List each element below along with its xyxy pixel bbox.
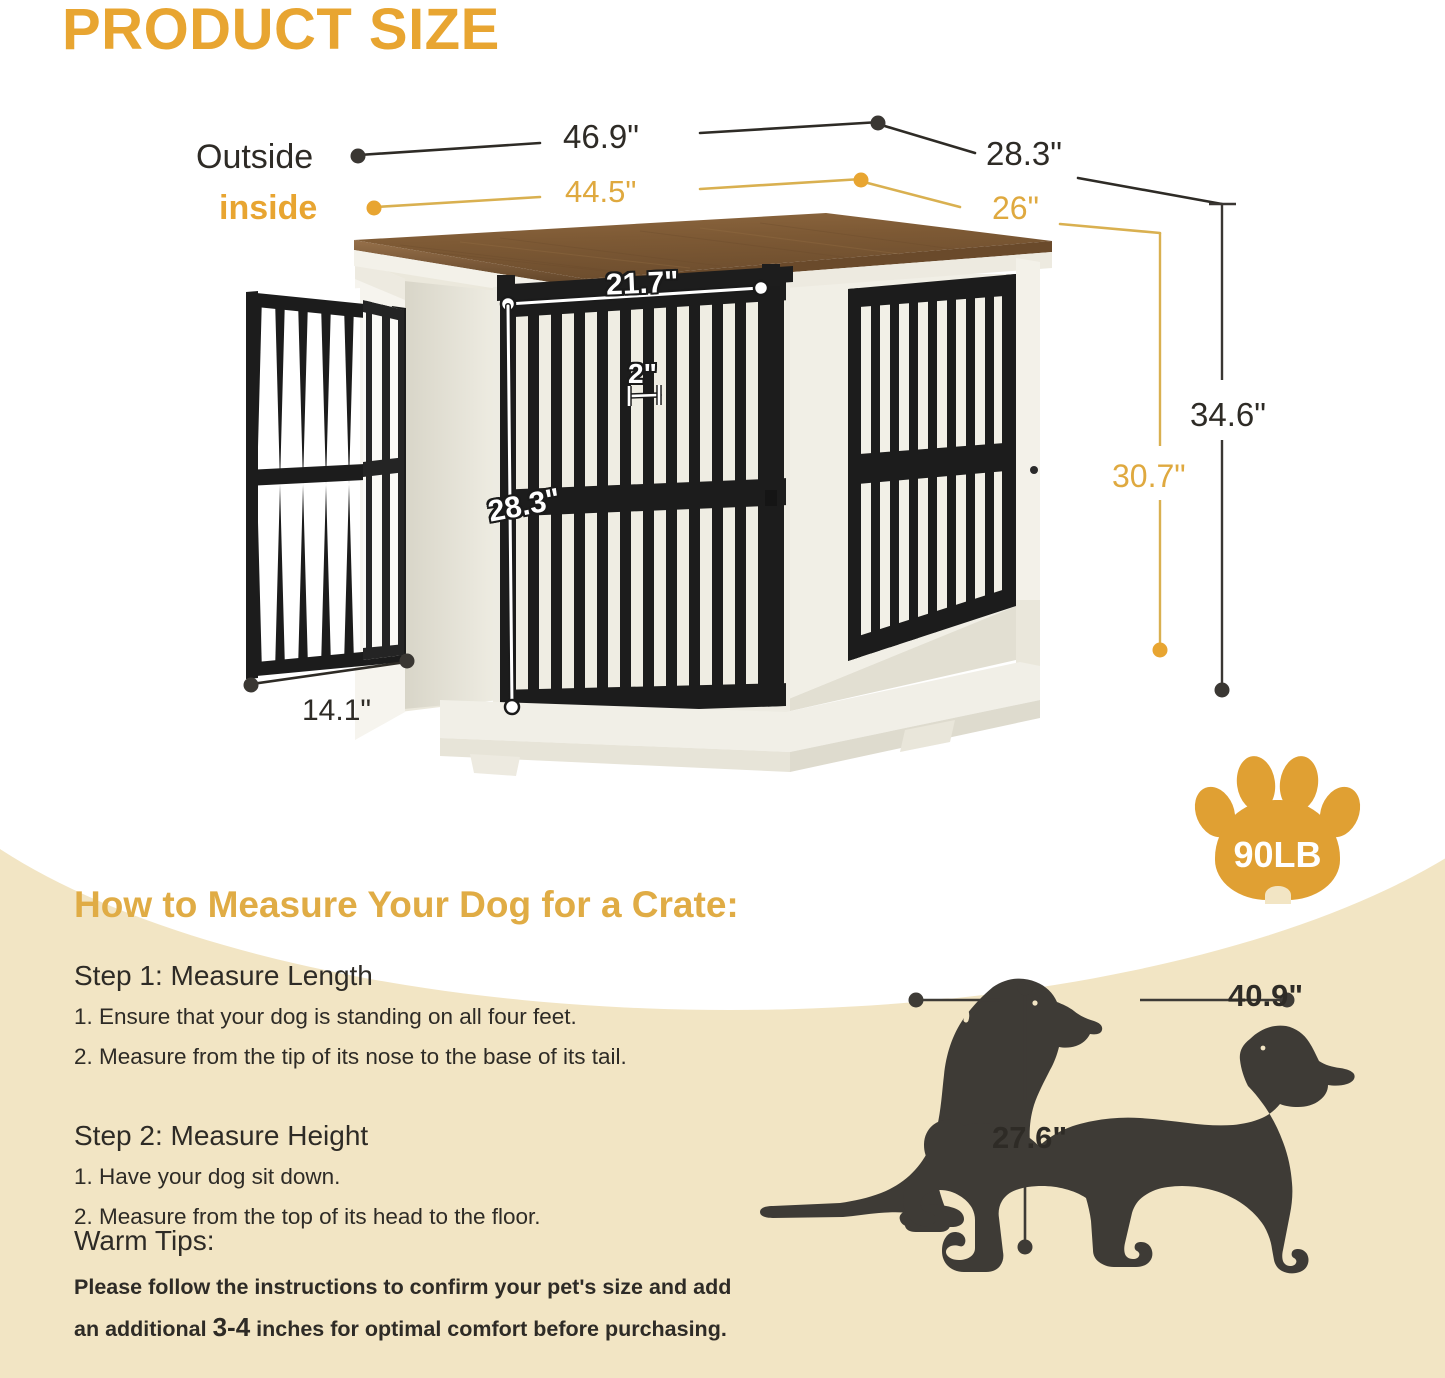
warm-tips-line-2: an additional 3-4 inches for optimal com… [74,1312,834,1343]
dimension-inside-height: 30.7" [1112,458,1186,495]
warm-tips-body: Please follow the instructions to confir… [74,1275,834,1355]
warm-tips-suffix: inches for optimal comfort before purcha… [250,1317,727,1341]
dimension-door-width: 21.7" [605,265,679,302]
warm-tips-line-1: Please follow the instructions to confir… [74,1275,834,1300]
step-2-heading: Step 2: Measure Height [74,1120,774,1152]
page-title: PRODUCT SIZE [62,0,500,63]
weight-capacity-badge: 90LB [1190,834,1365,876]
measure-steps: Step 1: Measure Length 1. Ensure that yo… [74,950,774,1244]
step-2-line-1: 1. Have your dog sit down. [74,1164,774,1190]
step-1-line-2: 2. Measure from the tip of its nose to t… [74,1044,774,1070]
dog-sitting-silhouette-icon [760,979,1102,1232]
guide-title: How to Measure Your Dog for a Crate: [74,884,739,926]
step-1-line-1: 1. Ensure that your dog is standing on a… [74,1004,774,1030]
dimension-inside-width: 44.5" [565,174,636,210]
step-1-heading: Step 1: Measure Length [74,960,774,992]
dimension-outside-height: 34.6" [1190,396,1266,434]
warm-tips-prefix: an additional [74,1317,213,1341]
steps-spacer [74,1084,774,1110]
infographic-page: PRODUCT SIZE [0,0,1445,1378]
warm-tips-heading: Warm Tips: [74,1225,215,1257]
dimension-outside-width: 46.9" [563,118,639,156]
dimension-inside-depth: 26" [992,190,1039,227]
dog-measurement-diagram [740,960,1440,1300]
legend-outside-label: Outside [196,138,313,177]
dog-height-label: 27.6" [992,1120,1067,1156]
paw-print-icon: 90LB [1190,752,1365,902]
warm-tips-emphasis: 3-4 [213,1312,251,1342]
dog-length-label: 40.9" [1228,978,1303,1014]
dimension-bar-spacing: 2" [628,358,657,390]
dimension-outside-depth: 28.3" [986,135,1062,173]
dimension-side-door-width: 14.1" [302,694,371,728]
legend-inside-label: inside [219,189,317,228]
